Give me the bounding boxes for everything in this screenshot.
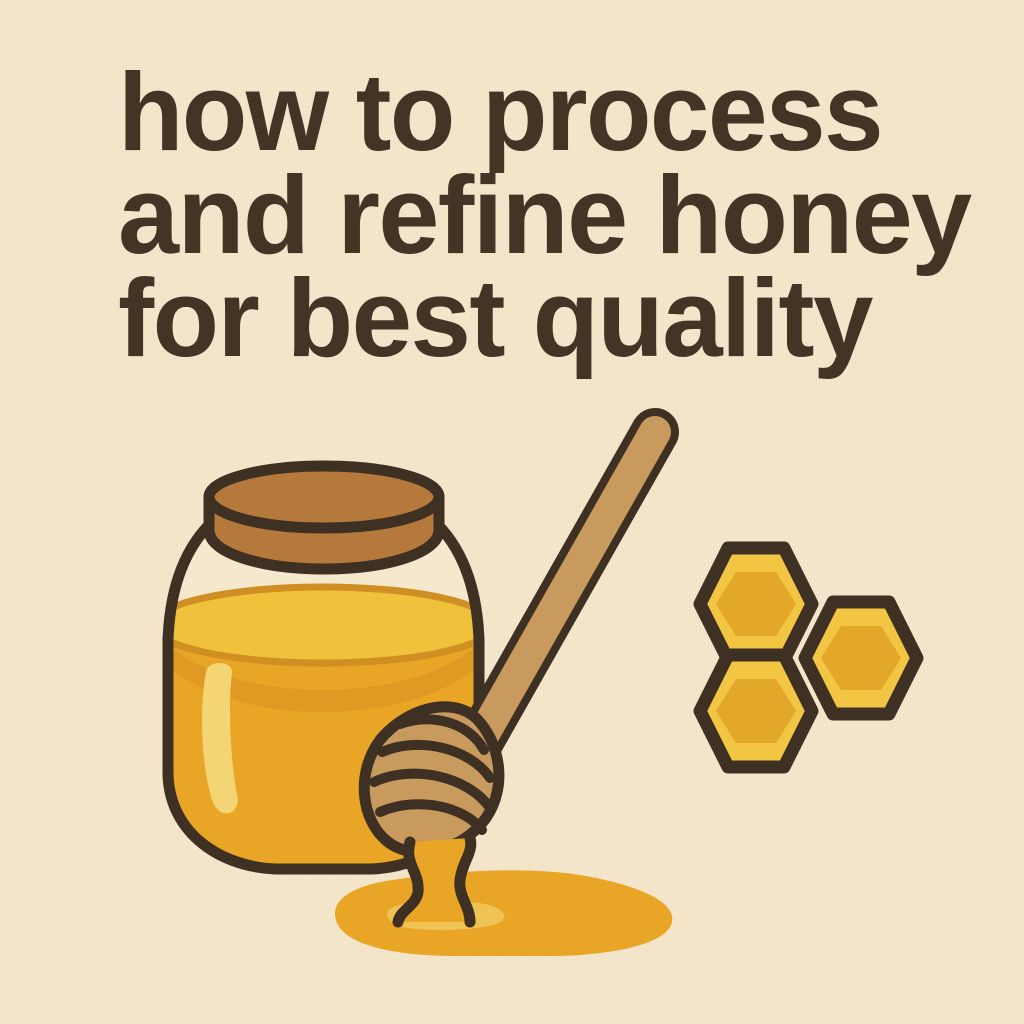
- honeycomb-cluster: [700, 548, 917, 767]
- honeycomb-cell-2: [700, 655, 812, 767]
- poster-canvas: how to process and refine honey for best…: [0, 0, 1024, 1024]
- headline-line-2: and refine honey: [118, 162, 1024, 271]
- honeycomb-cell-1: [700, 548, 812, 660]
- headline-line-3: for best quality: [118, 265, 1024, 374]
- honey-puddle: [335, 870, 672, 956]
- honeycomb-cell-3: [805, 602, 917, 714]
- page-title: how to process and refine honey for best…: [118, 62, 998, 371]
- headline-line-1: how to process: [118, 59, 1024, 168]
- dipper-head: [364, 707, 499, 852]
- jar-lid: [209, 466, 439, 569]
